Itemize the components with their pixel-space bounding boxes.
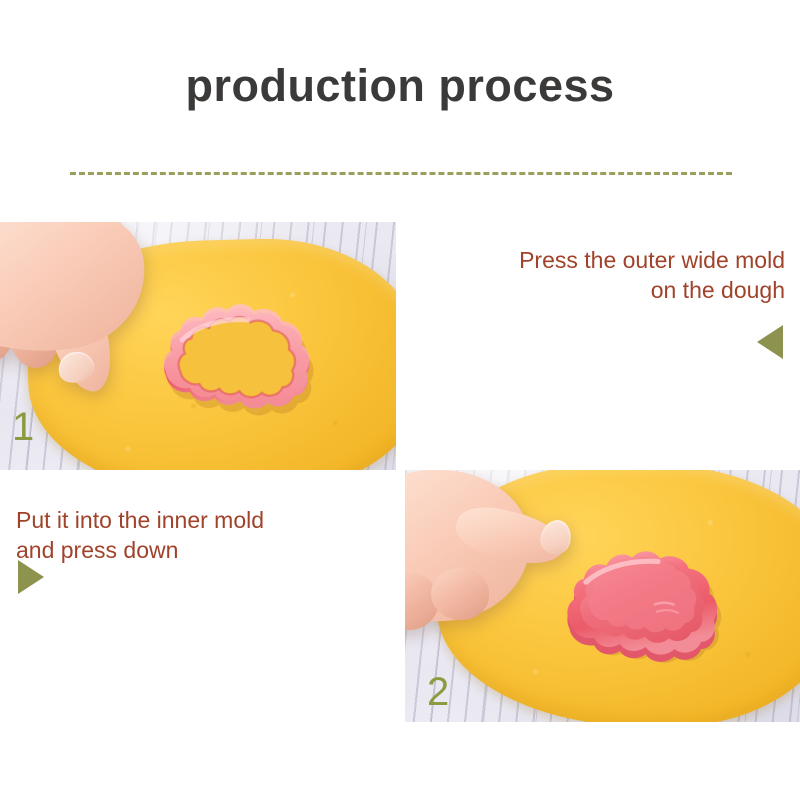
step-2-caption: Put it into the inner mold and press dow… bbox=[16, 505, 396, 566]
step-1-caption-line-2: on the dough bbox=[400, 275, 785, 305]
knuckle bbox=[431, 568, 489, 620]
triangle-right-icon bbox=[18, 560, 44, 594]
step-number-2: 2 bbox=[427, 672, 449, 712]
hand bbox=[405, 470, 635, 650]
hand bbox=[0, 222, 210, 412]
page-title: production process bbox=[0, 62, 800, 109]
triangle-left-icon bbox=[757, 325, 783, 359]
step-1-caption-line-1: Press the outer wide mold bbox=[400, 245, 785, 275]
step-2-caption-line-1: Put it into the inner mold bbox=[16, 505, 396, 535]
palm bbox=[0, 222, 154, 366]
step-number-1: 1 bbox=[12, 407, 34, 447]
dashed-divider bbox=[70, 172, 732, 175]
step-2-caption-line-2: and press down bbox=[16, 535, 396, 565]
step-1-photo: 1 bbox=[0, 222, 396, 470]
step-2-photo: 2 bbox=[405, 470, 800, 722]
step-1-caption: Press the outer wide mold on the dough bbox=[400, 245, 785, 306]
